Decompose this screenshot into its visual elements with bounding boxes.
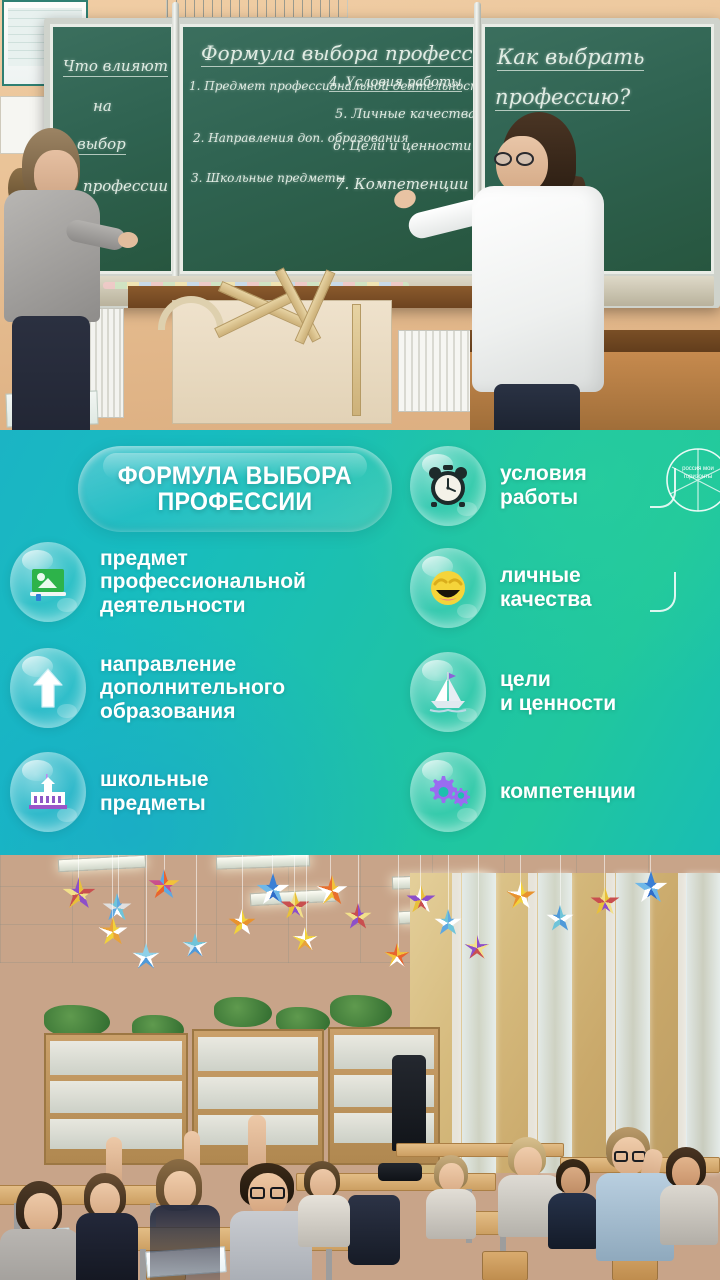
board-divider-pole-left	[172, 2, 179, 302]
chair-2	[482, 1251, 528, 1280]
top-classroom-photo: Что влияют на выбор профессии ? Формула …	[0, 0, 720, 430]
info-item-competencies-label: компетенции	[500, 780, 636, 804]
board-item-4: 4. Условия работы	[329, 75, 462, 92]
board-item-5: 5. Личные качества	[335, 107, 476, 122]
student-glasses-icon	[250, 1187, 288, 1199]
bracket-personal-qualities	[650, 572, 676, 612]
info-item-school-subjects[interactable]: школьные предметы	[10, 752, 209, 832]
board-right-line-2: профессию?	[495, 85, 630, 111]
info-item-subject-label: предмет профессиональной деятельности	[100, 547, 306, 618]
alarm-clock-icon	[410, 446, 486, 526]
long-ruler	[352, 304, 361, 416]
up-arrow-icon	[10, 648, 86, 728]
info-item-extra-education[interactable]: направление дополнительного образования	[10, 648, 285, 728]
school-building-icon	[10, 752, 86, 832]
info-item-school-subjects-label: школьные предметы	[100, 768, 209, 815]
info-item-work-conditions[interactable]: условия работы	[410, 446, 587, 526]
infographic-title-line2: ПРОФЕССИИ	[158, 488, 313, 516]
board-item-3: 3. Школьные предметы	[191, 171, 345, 185]
info-item-extra-education-label: направление дополнительного образования	[100, 653, 285, 724]
info-item-personal-qualities-label: личные качества	[500, 564, 592, 611]
infographic-title-pill: ФОРМУЛА ВЫБОРА ПРОФЕССИИ	[78, 446, 392, 532]
board-center-title: Формула выбора профессии	[201, 41, 476, 67]
board-right-line-1: Как выбрать	[497, 45, 644, 71]
logo-line1: россия мои	[682, 466, 714, 472]
bottom-classroom-photo	[0, 855, 720, 1280]
plant-5	[330, 995, 392, 1027]
smiley-laughing-icon	[410, 548, 486, 628]
backpack	[348, 1195, 400, 1265]
info-item-competencies[interactable]: компетенции	[410, 752, 636, 832]
board-item-6: 6. Цели и ценности	[333, 139, 472, 154]
board-left-line-1: Что влияют	[63, 57, 168, 77]
infographic-title-line1: ФОРМУЛА ВЫБОРА	[118, 462, 352, 490]
plant-3	[214, 997, 272, 1027]
board-left-line-2: на	[93, 97, 112, 115]
pencil-case	[378, 1163, 422, 1181]
glasses-icon	[494, 152, 540, 166]
picture-frame-icon	[10, 542, 86, 622]
gears-icon	[410, 752, 486, 832]
hanging-coat	[392, 1055, 426, 1151]
info-item-goals-values[interactable]: цели и ценности	[410, 652, 616, 732]
chalkboard-center-panel: Формула выбора профессии 1. Предмет проф…	[180, 24, 476, 274]
sailboat-icon	[410, 652, 486, 732]
wall-ruler	[166, 0, 348, 18]
info-item-work-conditions-label: условия работы	[500, 462, 587, 509]
rossiya-moi-gorizonty-logo: россия мои горизонты	[658, 442, 720, 520]
student-girl-left	[4, 128, 100, 430]
logo-line2: горизонты	[684, 474, 712, 480]
info-item-goals-values-label: цели и ценности	[500, 668, 616, 715]
info-item-personal-qualities[interactable]: личные качества	[410, 548, 592, 628]
collage-page: Что влияют на выбор профессии ? Формула …	[0, 0, 720, 1280]
chalkboard-frame: Что влияют на выбор профессии ? Формула …	[44, 18, 720, 308]
info-item-subject[interactable]: предмет профессиональной деятельности	[10, 542, 306, 622]
student-girl-right-pointing	[468, 112, 618, 430]
